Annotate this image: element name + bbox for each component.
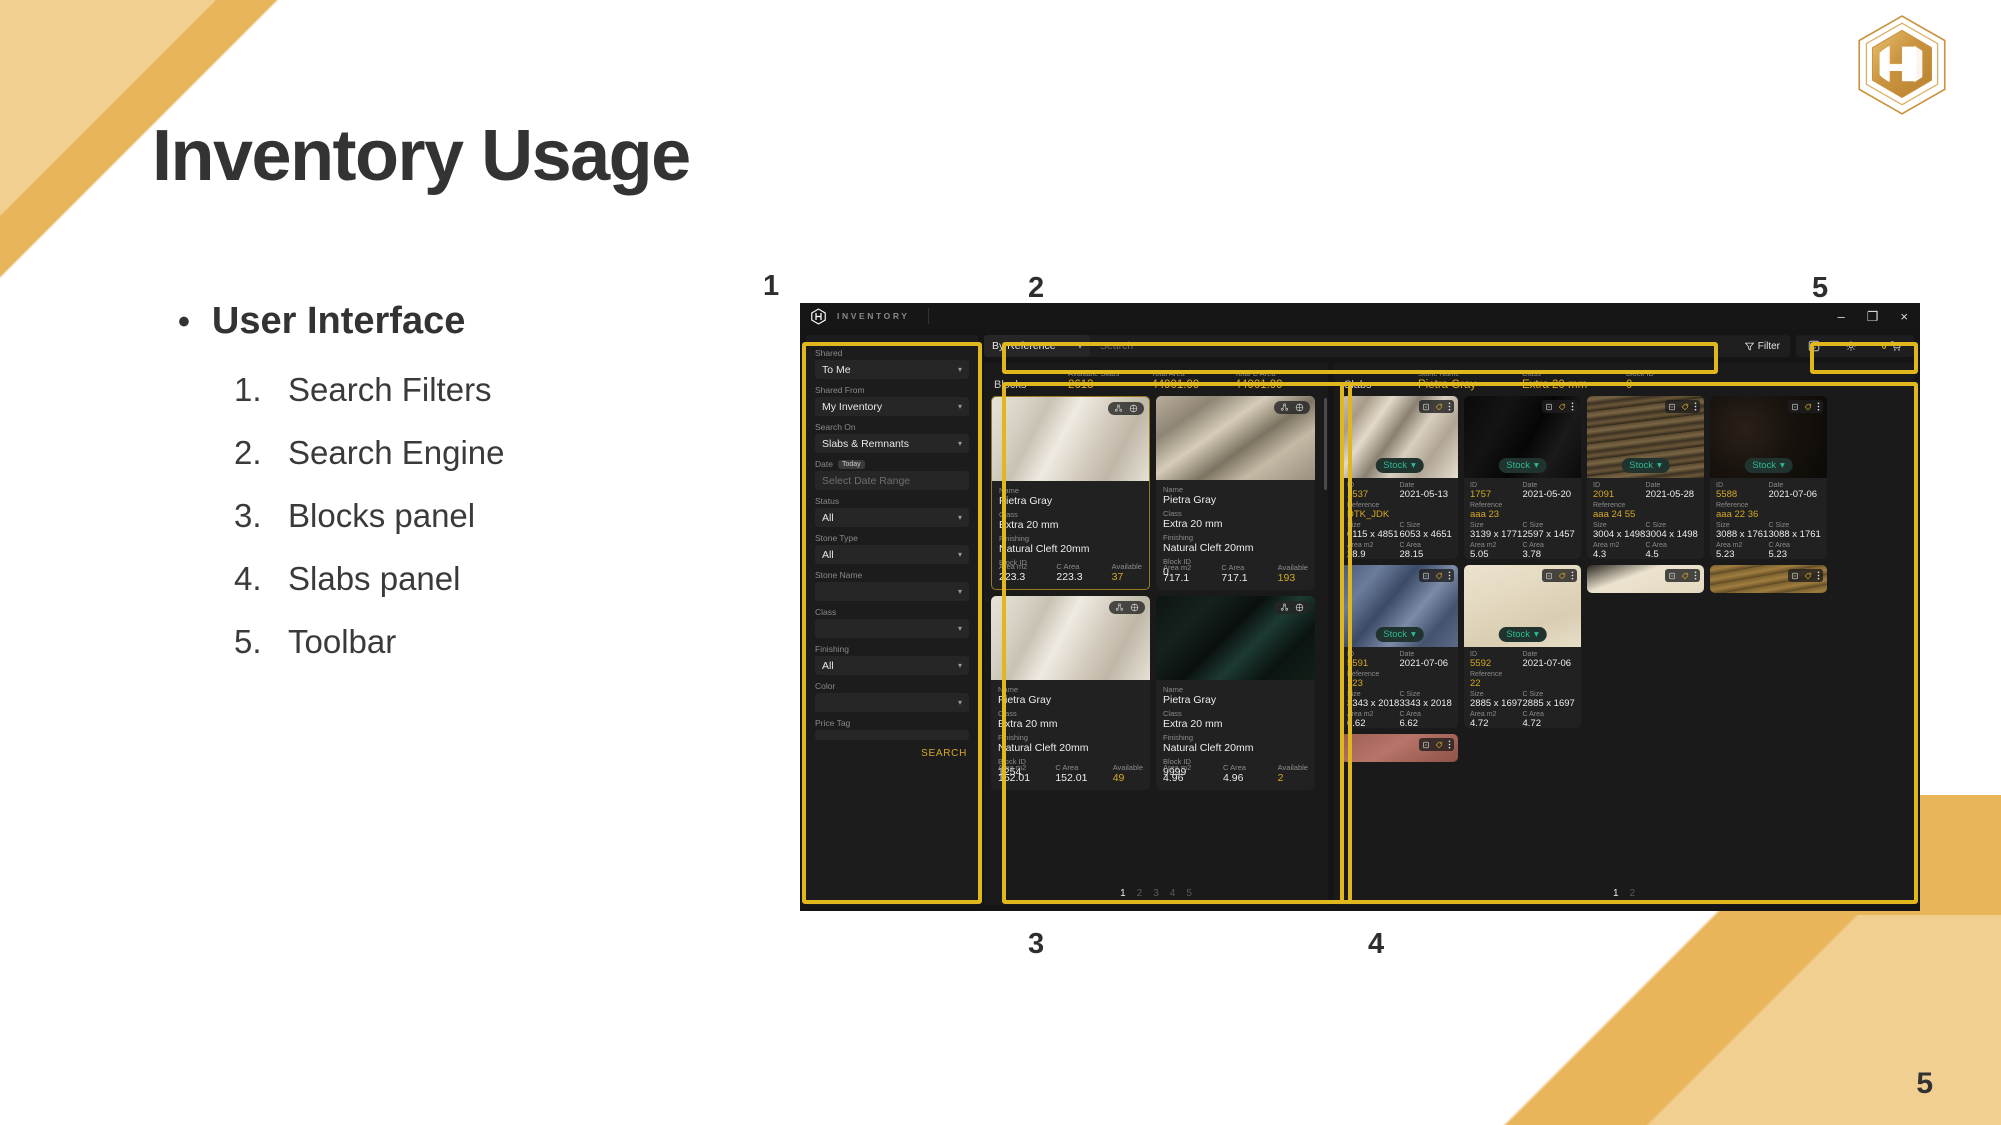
callout-5: 5 [1812, 272, 1828, 305]
list-item: 5. Toolbar [234, 623, 808, 661]
list-item-label: Toolbar [288, 623, 396, 661]
list-item-label: Search Filters [288, 371, 492, 409]
decor-corner-bottom-right-inner [1571, 915, 2001, 1125]
filter-label: Filter [1758, 341, 1780, 352]
slide-content: • User Interface 1. Search Filters 2. Se… [168, 300, 808, 686]
app-titlebar: INVENTORY – ❐ × [800, 303, 1920, 329]
list-item: 2. Search Engine [234, 434, 808, 472]
highlight-toolbar [1810, 342, 1918, 374]
list-item-number: 1. [234, 371, 268, 409]
highlight-search-engine [1002, 342, 1718, 374]
hexagon-h-logo [1851, 12, 1953, 124]
minimize-button[interactable]: – [1838, 310, 1845, 323]
list-item-label: Search Engine [288, 434, 504, 472]
app-name: INVENTORY [837, 311, 910, 321]
slide-page-number: 5 [1916, 1067, 1933, 1101]
list-item-number: 3. [234, 497, 268, 535]
bullet-user-interface: • User Interface [178, 300, 808, 343]
callout-2: 2 [1028, 272, 1044, 305]
list-item: 1. Search Filters [234, 371, 808, 409]
filter-button[interactable]: Filter [1745, 341, 1790, 352]
bullet-dot-icon: • [178, 305, 190, 339]
list-item-number: 2. [234, 434, 268, 472]
restore-button[interactable]: ❐ [1867, 310, 1879, 323]
page-title: Inventory Usage [152, 115, 690, 197]
list-item: 3. Blocks panel [234, 497, 808, 535]
list-item-label: Blocks panel [288, 497, 475, 535]
list-item-number: 5. [234, 623, 268, 661]
list-item-label: Slabs panel [288, 560, 460, 598]
highlight-blocks-panel [1002, 382, 1352, 904]
highlight-slabs-panel [1340, 382, 1918, 904]
close-button[interactable]: × [1900, 310, 1908, 323]
window-controls: – ❐ × [1838, 310, 1920, 323]
callout-3: 3 [1028, 928, 1044, 961]
funnel-icon [1745, 342, 1754, 351]
bullet-label: User Interface [212, 300, 465, 343]
highlight-search-filters [802, 342, 982, 904]
list-item: 4. Slabs panel [234, 560, 808, 598]
list-item-number: 4. [234, 560, 268, 598]
sub-list: 1. Search Filters 2. Search Engine 3. Bl… [234, 371, 808, 661]
titlebar-divider [928, 308, 929, 324]
hexagon-h-logo [810, 308, 827, 325]
callout-4: 4 [1368, 928, 1384, 961]
callout-1: 1 [763, 270, 779, 303]
